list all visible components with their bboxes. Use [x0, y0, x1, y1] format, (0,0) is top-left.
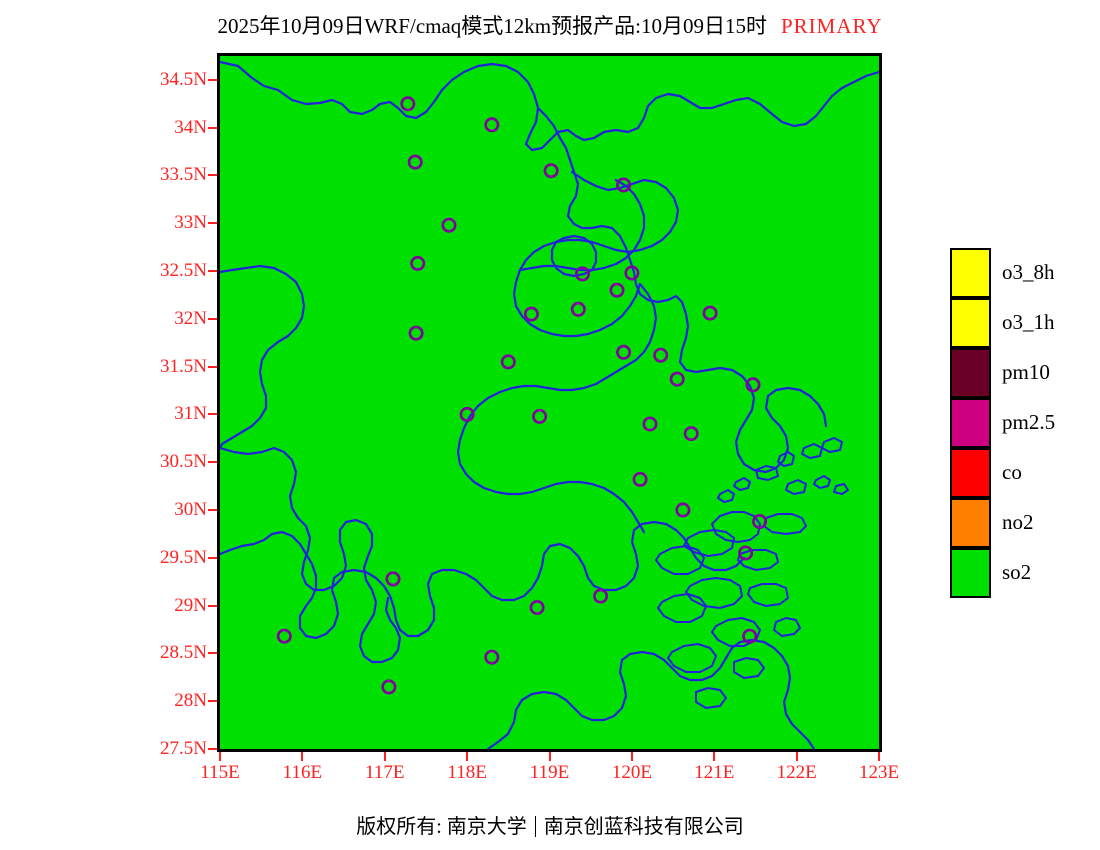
- station-marker: [655, 349, 667, 361]
- latitude-tick-mark: [208, 318, 217, 320]
- latitude-tick-mark: [208, 222, 217, 224]
- latitude-tick-mark: [208, 461, 217, 463]
- latitude-tick-label: 31.5N: [95, 356, 207, 378]
- latitude-tick-mark: [208, 700, 217, 702]
- latitude-tick-mark: [208, 557, 217, 559]
- title-primary-flag: PRIMARY: [781, 14, 883, 38]
- map-plot-area[interactable]: [217, 53, 882, 752]
- station-marker: [545, 165, 557, 177]
- latitude-tick-mark: [208, 605, 217, 607]
- legend-color-swatch: [950, 348, 991, 398]
- station-marker: [611, 284, 623, 296]
- station-marker: [685, 427, 697, 439]
- latitude-tick-label: 34N: [95, 117, 207, 139]
- latitude-tick-mark: [208, 174, 217, 176]
- longitude-tick-mark: [631, 752, 633, 761]
- longitude-tick-mark: [466, 752, 468, 761]
- legend-item-label: pm10: [1002, 360, 1050, 385]
- legend-color-swatch: [950, 298, 991, 348]
- station-marker: [486, 651, 498, 663]
- longitude-tick-label: 119E: [505, 762, 595, 784]
- longitude-tick-label: 118E: [422, 762, 512, 784]
- legend-item-label: o3_8h: [1002, 260, 1055, 285]
- latitude-tick-label: 27.5N: [95, 738, 207, 760]
- longitude-tick-label: 123E: [834, 762, 924, 784]
- legend-item-label: so2: [1002, 560, 1031, 585]
- page-title: 2025年10月09日WRF/cmaq模式12km预报产品:10月09日15时P…: [0, 10, 1100, 40]
- longitude-tick-label: 115E: [175, 762, 265, 784]
- latitude-tick-label: 31N: [95, 403, 207, 425]
- legend-item-label: o3_1h: [1002, 310, 1055, 335]
- footer-right-text: 南京创蓝科技有限公司: [544, 816, 744, 838]
- longitude-tick-label: 116E: [257, 762, 347, 784]
- longitude-tick-label: 122E: [752, 762, 842, 784]
- legend-color-swatch: [950, 498, 991, 548]
- longitude-tick-mark: [384, 752, 386, 761]
- latitude-tick-mark: [208, 509, 217, 511]
- latitude-tick-label: 34.5N: [95, 69, 207, 91]
- station-marker: [533, 410, 545, 422]
- station-marker: [671, 373, 683, 385]
- title-text: 2025年10月09日WRF/cmaq模式12km预报产品:10月09日15时: [217, 14, 767, 38]
- map-vector-layer: [220, 56, 879, 749]
- latitude-tick-mark: [208, 748, 217, 750]
- latitude-tick-mark: [208, 652, 217, 654]
- legend-item-label: pm2.5: [1002, 410, 1055, 435]
- longitude-tick-mark: [549, 752, 551, 761]
- station-marker: [387, 573, 399, 585]
- station-marker: [443, 219, 455, 231]
- longitude-tick-mark: [301, 752, 303, 761]
- legend-color-swatch: [950, 398, 991, 448]
- station-marker: [617, 346, 629, 358]
- longitude-tick-label: 117E: [340, 762, 430, 784]
- latitude-tick-label: 30.5N: [95, 451, 207, 473]
- station-marker: [704, 307, 716, 319]
- latitude-tick-label: 28.5N: [95, 642, 207, 664]
- longitude-tick-label: 120E: [587, 762, 677, 784]
- latitude-tick-mark: [208, 413, 217, 415]
- station-marker: [486, 119, 498, 131]
- station-marker: [644, 418, 656, 430]
- legend-color-swatch: [950, 548, 991, 598]
- footer-left-text: 版权所有: 南京大学: [356, 816, 527, 838]
- latitude-tick-mark: [208, 79, 217, 81]
- legend-item-label: co: [1002, 460, 1022, 485]
- latitude-tick-label: 30N: [95, 499, 207, 521]
- forecast-map-page: 2025年10月09日WRF/cmaq模式12km预报产品:10月09日15时P…: [0, 0, 1100, 850]
- longitude-tick-mark: [796, 752, 798, 761]
- latitude-tick-label: 29.5N: [95, 547, 207, 569]
- station-marker: [634, 473, 646, 485]
- legend-item-label: no2: [1002, 510, 1034, 535]
- latitude-tick-label: 33N: [95, 212, 207, 234]
- latitude-tick-label: 32N: [95, 308, 207, 330]
- station-marker: [502, 356, 514, 368]
- station-marker: [402, 98, 414, 110]
- latitude-tick-mark: [208, 366, 217, 368]
- station-marker: [525, 308, 537, 320]
- longitude-tick-label: 121E: [669, 762, 759, 784]
- latitude-tick-label: 29N: [95, 595, 207, 617]
- monitoring-stations: [278, 98, 766, 694]
- station-marker: [410, 327, 422, 339]
- footer-divider: [535, 816, 536, 837]
- longitude-tick-mark: [219, 752, 221, 761]
- latitude-tick-label: 32.5N: [95, 260, 207, 282]
- longitude-tick-mark: [713, 752, 715, 761]
- latitude-tick-label: 33.5N: [95, 164, 207, 186]
- station-marker: [572, 303, 584, 315]
- station-marker: [531, 601, 543, 613]
- copyright-footer: 版权所有: 南京大学南京创蓝科技有限公司: [0, 810, 1100, 839]
- latitude-tick-label: 28N: [95, 690, 207, 712]
- legend-color-swatch: [950, 248, 991, 298]
- station-marker: [412, 257, 424, 269]
- station-marker: [677, 504, 689, 516]
- station-marker: [383, 681, 395, 693]
- station-marker: [409, 156, 421, 168]
- station-marker: [278, 630, 290, 642]
- longitude-tick-mark: [878, 752, 880, 761]
- latitude-tick-mark: [208, 270, 217, 272]
- legend-color-swatch: [950, 448, 991, 498]
- station-marker: [594, 590, 606, 602]
- latitude-tick-mark: [208, 127, 217, 129]
